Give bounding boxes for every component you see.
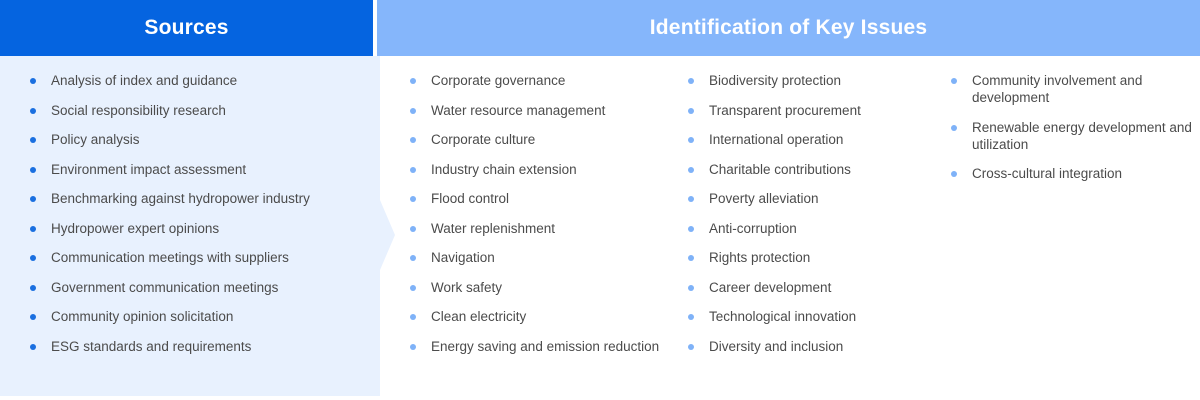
list-item-label: Corporate culture — [431, 131, 675, 148]
bullet-icon — [410, 255, 416, 261]
bullet-icon — [30, 167, 36, 173]
bullet-icon — [688, 226, 694, 232]
bullet-icon — [30, 255, 36, 261]
list-item-label: Renewable energy development and utiliza… — [972, 119, 1196, 153]
list-item-label: Clean electricity — [431, 308, 675, 325]
bullet-icon — [410, 314, 416, 320]
list-item-label: Community involvement and development — [972, 72, 1196, 106]
list-item: Corporate culture — [410, 131, 675, 148]
list-item: Diversity and inclusion — [688, 338, 943, 355]
list-item: Policy analysis — [30, 131, 370, 148]
key-issues-column-2: Biodiversity protection Transparent proc… — [688, 72, 943, 355]
list-item: Work safety — [410, 279, 675, 296]
bullet-icon — [30, 137, 36, 143]
bullet-icon — [410, 167, 416, 173]
list-item-label: Cross-cultural integration — [972, 165, 1196, 182]
flow-arrow-icon — [380, 200, 395, 270]
list-item-label: Rights protection — [709, 249, 943, 266]
list-item-label: Charitable contributions — [709, 161, 943, 178]
key-issues-column-1: Corporate governance Water resource mana… — [410, 72, 675, 355]
list-item: Corporate governance — [410, 72, 675, 89]
list-item: Technological innovation — [688, 308, 943, 325]
bullet-icon — [410, 137, 416, 143]
bullet-icon — [30, 285, 36, 291]
list-item-label: Industry chain extension — [431, 161, 675, 178]
bullet-icon — [30, 78, 36, 84]
list-item: Government communication meetings — [30, 279, 370, 296]
list-item-label: Work safety — [431, 279, 675, 296]
list-item-label: Communication meetings with suppliers — [51, 249, 370, 266]
sources-header: Sources — [0, 0, 373, 56]
list-item: Clean electricity — [410, 308, 675, 325]
list-item: Community involvement and development — [951, 72, 1196, 106]
bullet-icon — [30, 344, 36, 350]
sources-title: Sources — [144, 16, 228, 40]
list-item-label: Policy analysis — [51, 131, 370, 148]
bullet-icon — [410, 78, 416, 84]
bullet-icon — [688, 196, 694, 202]
key-issues-list-1: Corporate governance Water resource mana… — [410, 72, 675, 355]
sources-list-column: Analysis of index and guidance Social re… — [30, 72, 370, 355]
list-item-label: Flood control — [431, 190, 675, 207]
list-item: Charitable contributions — [688, 161, 943, 178]
list-item-label: Anti-corruption — [709, 220, 943, 237]
bullet-icon — [688, 78, 694, 84]
list-item-label: Water replenishment — [431, 220, 675, 237]
list-item: Transparent procurement — [688, 102, 943, 119]
list-item-label: Government communication meetings — [51, 279, 370, 296]
list-item: Communication meetings with suppliers — [30, 249, 370, 266]
bullet-icon — [951, 78, 957, 84]
list-item-label: ESG standards and requirements — [51, 338, 370, 355]
list-item-label: Water resource management — [431, 102, 675, 119]
list-item: Biodiversity protection — [688, 72, 943, 89]
list-item-label: Social responsibility research — [51, 102, 370, 119]
bullet-icon — [30, 196, 36, 202]
bullet-icon — [30, 108, 36, 114]
bullet-icon — [410, 226, 416, 232]
stakeholder-materiality-infographic: Sources Identification of Key Issues Ana… — [0, 0, 1200, 400]
list-item-label: Corporate governance — [431, 72, 675, 89]
list-item-label: Benchmarking against hydropower industry — [51, 190, 370, 207]
list-item-label: Environment impact assessment — [51, 161, 370, 178]
list-item: International operation — [688, 131, 943, 148]
list-item: Poverty alleviation — [688, 190, 943, 207]
sources-list: Analysis of index and guidance Social re… — [30, 72, 370, 355]
list-item: Community opinion solicitation — [30, 308, 370, 325]
list-item: Navigation — [410, 249, 675, 266]
list-item: Analysis of index and guidance — [30, 72, 370, 89]
list-item: Flood control — [410, 190, 675, 207]
list-item: Industry chain extension — [410, 161, 675, 178]
key-issues-title: Identification of Key Issues — [650, 16, 928, 40]
bullet-icon — [410, 196, 416, 202]
list-item: Career development — [688, 279, 943, 296]
bullet-icon — [688, 108, 694, 114]
list-item: ESG standards and requirements — [30, 338, 370, 355]
key-issues-header: Identification of Key Issues — [377, 0, 1200, 56]
key-issues-column-3: Community involvement and development Re… — [951, 72, 1196, 182]
list-item-label: Biodiversity protection — [709, 72, 943, 89]
list-item-label: Poverty alleviation — [709, 190, 943, 207]
list-item-label: Navigation — [431, 249, 675, 266]
bullet-icon — [688, 285, 694, 291]
list-item: Rights protection — [688, 249, 943, 266]
list-item: Water resource management — [410, 102, 675, 119]
bullet-icon — [410, 108, 416, 114]
list-item: Environment impact assessment — [30, 161, 370, 178]
list-item: Benchmarking against hydropower industry — [30, 190, 370, 207]
bullet-icon — [410, 285, 416, 291]
list-item-label: Hydropower expert opinions — [51, 220, 370, 237]
bullet-icon — [410, 344, 416, 350]
bullet-icon — [951, 171, 957, 177]
bullet-icon — [688, 137, 694, 143]
list-item: Cross-cultural integration — [951, 165, 1196, 182]
bullet-icon — [688, 255, 694, 261]
list-item-label: Technological innovation — [709, 308, 943, 325]
list-item: Anti-corruption — [688, 220, 943, 237]
list-item: Renewable energy development and utiliza… — [951, 119, 1196, 153]
list-item-label: Transparent procurement — [709, 102, 943, 119]
list-item-label: Analysis of index and guidance — [51, 72, 370, 89]
bullet-icon — [951, 125, 957, 131]
bullet-icon — [30, 226, 36, 232]
bullet-icon — [688, 167, 694, 173]
list-item: Water replenishment — [410, 220, 675, 237]
list-item: Energy saving and emission reduction — [410, 338, 675, 355]
list-item: Hydropower expert opinions — [30, 220, 370, 237]
key-issues-list-3: Community involvement and development Re… — [951, 72, 1196, 182]
list-item-label: Career development — [709, 279, 943, 296]
list-item: Social responsibility research — [30, 102, 370, 119]
list-item-label: Energy saving and emission reduction — [431, 338, 675, 355]
bullet-icon — [688, 314, 694, 320]
key-issues-list-2: Biodiversity protection Transparent proc… — [688, 72, 943, 355]
bullet-icon — [30, 314, 36, 320]
list-item-label: Community opinion solicitation — [51, 308, 370, 325]
list-item-label: International operation — [709, 131, 943, 148]
list-item-label: Diversity and inclusion — [709, 338, 943, 355]
bullet-icon — [688, 344, 694, 350]
